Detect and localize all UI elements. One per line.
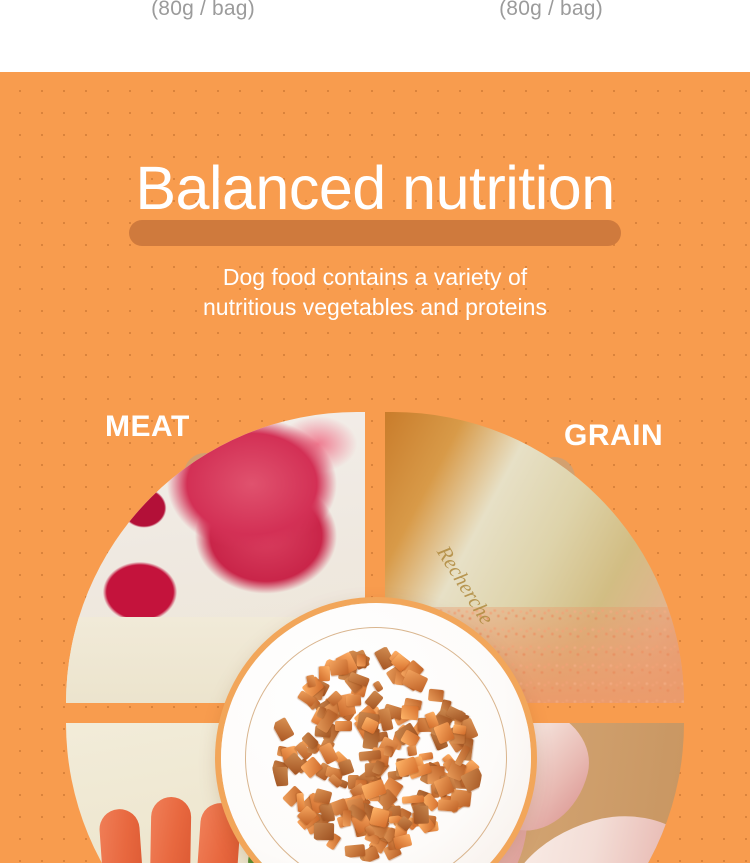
dog-food-cube xyxy=(346,695,362,706)
product-detail-page: (80g / bag) (80g / bag) Balanced nutriti… xyxy=(0,0,750,863)
carrot-icon xyxy=(149,797,192,863)
subtitle-line-1: Dog food contains a variety of xyxy=(0,262,750,292)
dog-food-cube xyxy=(383,745,393,757)
dog-food-cube xyxy=(356,654,365,666)
hero-orange-panel: Balanced nutrition Dog food contains a v… xyxy=(0,72,750,863)
subtitle-line-2: nutritious vegetables and proteins xyxy=(0,292,750,322)
dog-food-cube xyxy=(402,795,424,804)
page-title: Balanced nutrition xyxy=(0,152,750,224)
dog-food-cube xyxy=(318,742,338,765)
dog-food-cube xyxy=(438,799,458,811)
dog-food-cube xyxy=(272,766,288,786)
weight-label-left: (80g / bag) xyxy=(151,0,255,21)
dog-food-cube xyxy=(318,666,329,681)
carrot-icon xyxy=(98,808,150,863)
weight-label-right: (80g / bag) xyxy=(499,0,603,21)
headline-block: Balanced nutrition xyxy=(0,152,750,224)
hero-subtitle: Dog food contains a variety of nutritiou… xyxy=(0,262,750,322)
dog-food-cube xyxy=(401,705,419,720)
dog-food-cube xyxy=(452,724,466,735)
dog-food-cube xyxy=(314,823,334,840)
dog-food-cube xyxy=(335,721,352,731)
dog-food-cube xyxy=(342,810,351,826)
dog-food-cube xyxy=(345,844,366,858)
top-white-strip: (80g / bag) (80g / bag) xyxy=(0,0,750,72)
dog-food-cube xyxy=(406,745,417,756)
dog-food-cube xyxy=(329,659,349,676)
dog-food-cube xyxy=(271,717,294,742)
dog-food-cube xyxy=(413,805,429,824)
circular-food-composite: Recherche xyxy=(66,412,684,863)
dog-food-cube xyxy=(428,689,444,702)
